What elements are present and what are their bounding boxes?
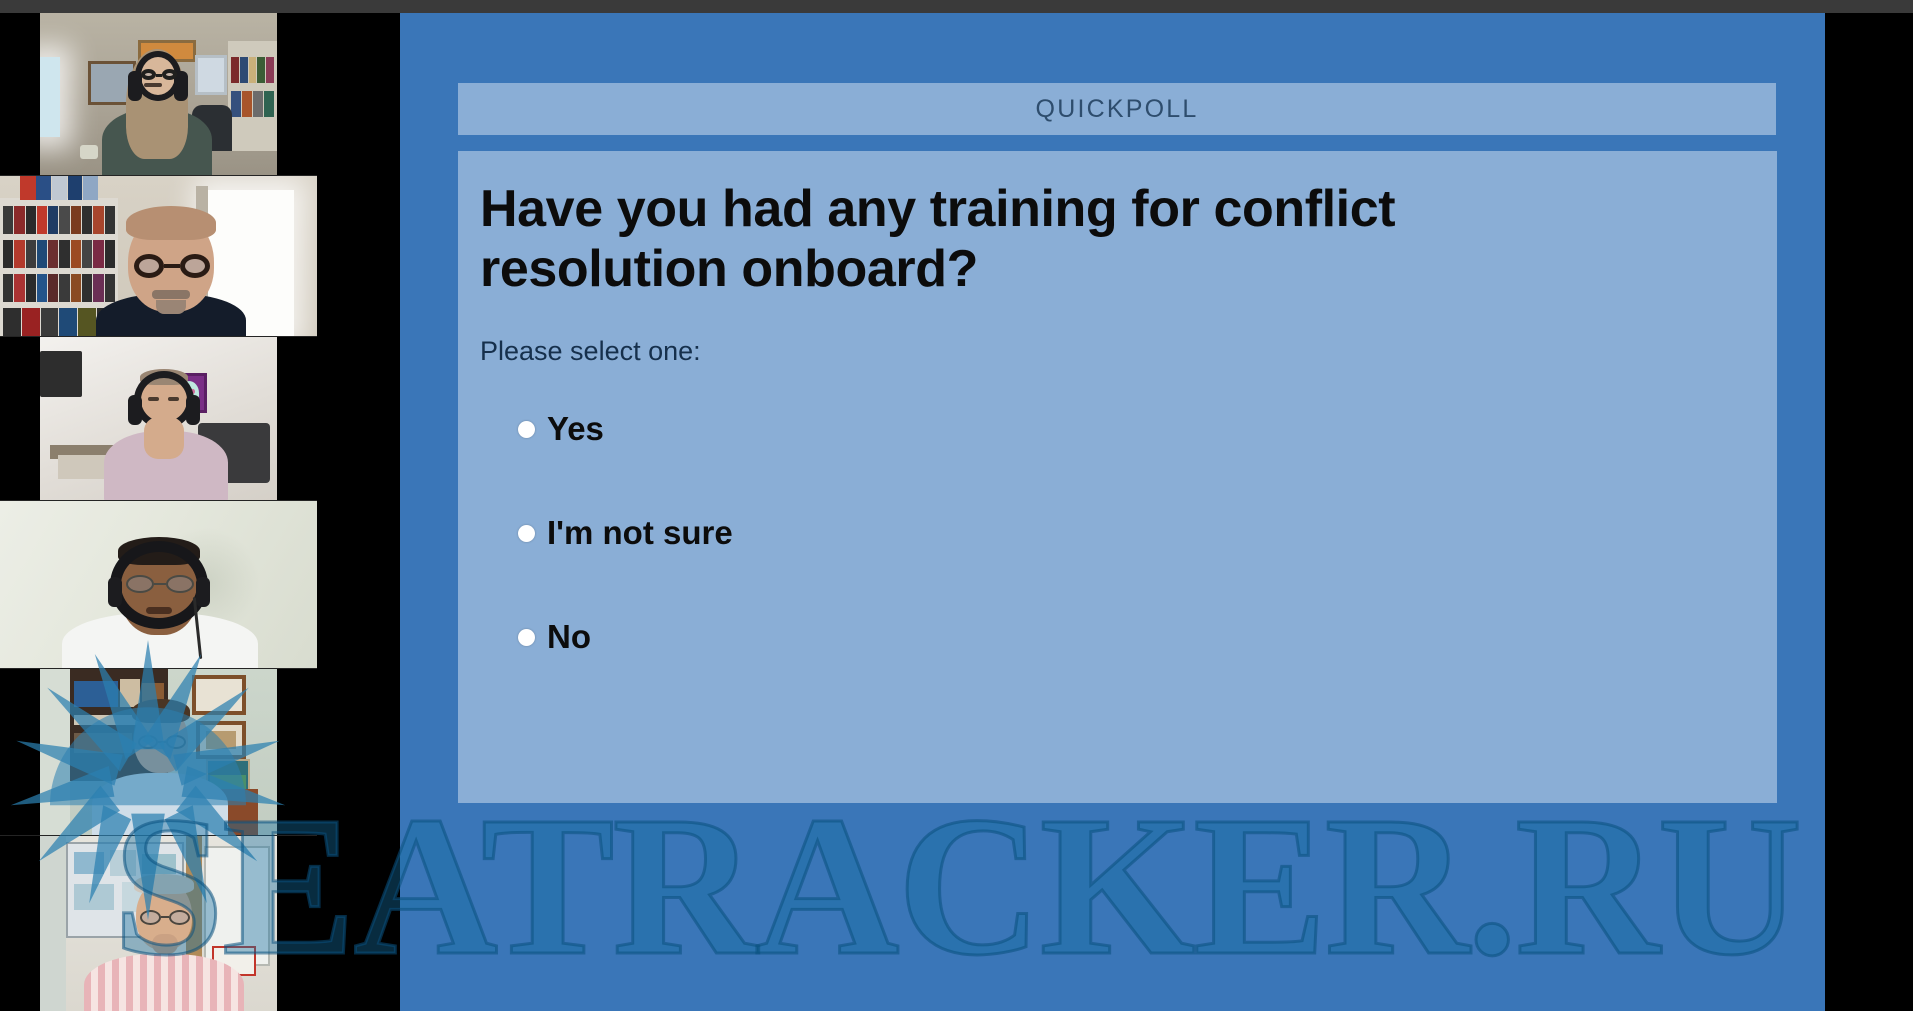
poll-instruction: Please select one: bbox=[480, 336, 701, 367]
poll-option-not-sure[interactable]: I'm not sure bbox=[480, 507, 1480, 559]
poll-card: Have you had any training for conflict r… bbox=[458, 151, 1777, 803]
poll-option-label: Yes bbox=[547, 410, 604, 448]
participant-video-p6 bbox=[40, 836, 277, 1011]
poll-option-label: I'm not sure bbox=[547, 514, 733, 552]
participant-video-p1 bbox=[40, 13, 277, 175]
participant-video-p5 bbox=[40, 669, 277, 835]
participant-tile-p5[interactable] bbox=[0, 669, 317, 836]
radio-icon-no[interactable] bbox=[518, 629, 535, 646]
poll-question: Have you had any training for conflict r… bbox=[480, 179, 1580, 300]
poll-header-bar: QUICKPOLL bbox=[458, 83, 1776, 135]
poll-option-no[interactable]: No bbox=[480, 611, 1480, 663]
poll-options-list[interactable]: Yes I'm not sure No bbox=[480, 403, 1480, 715]
shared-slide: QUICKPOLL Have you had any training for … bbox=[400, 13, 1825, 1011]
participant-video-p4 bbox=[0, 501, 317, 668]
radio-icon-not-sure[interactable] bbox=[518, 525, 535, 542]
poll-option-label: No bbox=[547, 618, 591, 656]
participant-tile-p3[interactable] bbox=[0, 337, 317, 501]
poll-title: QUICKPOLL bbox=[1036, 95, 1199, 124]
participant-filmstrip[interactable] bbox=[0, 13, 317, 1011]
participant-tile-p6[interactable] bbox=[0, 836, 317, 1011]
participant-video-p3 bbox=[40, 337, 277, 500]
screen-share-window: QUICKPOLL Have you had any training for … bbox=[0, 0, 1913, 1011]
radio-icon-yes[interactable] bbox=[518, 421, 535, 438]
participant-tile-p1[interactable] bbox=[0, 13, 317, 176]
poll-option-yes[interactable]: Yes bbox=[480, 403, 1480, 455]
participant-video-p2 bbox=[0, 176, 317, 336]
participant-tile-p2[interactable] bbox=[0, 176, 317, 337]
window-top-bar bbox=[0, 0, 1913, 13]
participant-tile-p4[interactable] bbox=[0, 501, 317, 669]
